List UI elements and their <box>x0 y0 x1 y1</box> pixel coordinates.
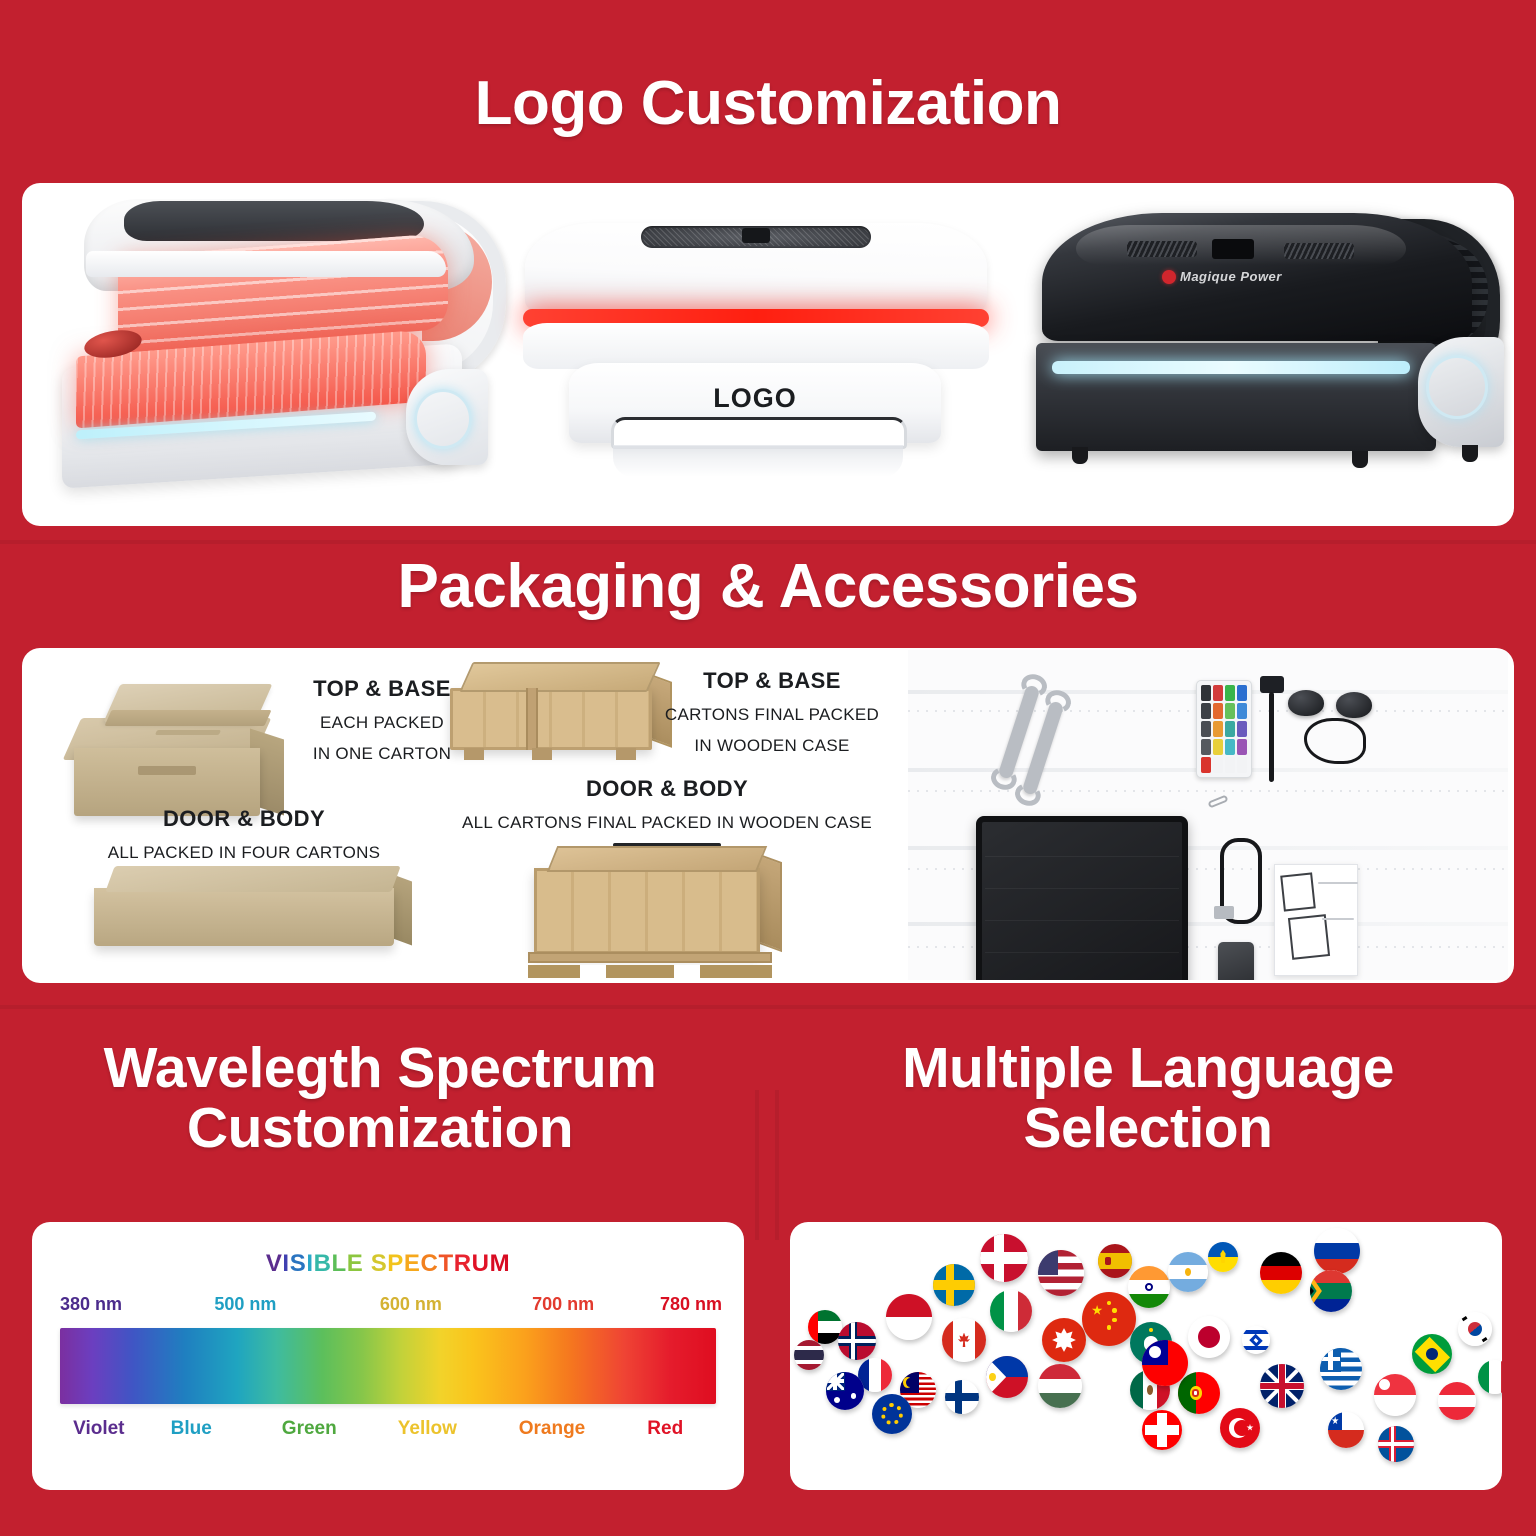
flag-icon-denmark[interactable] <box>980 1234 1028 1282</box>
flat-carton-illustration <box>86 866 426 966</box>
spectrum-title-letter: T <box>438 1250 453 1277</box>
spectrum-band-label: Orange <box>519 1418 586 1440</box>
crate-label-top-base: TOP & BASE CARTONS FINAL PACKED IN WOODE… <box>622 668 922 756</box>
goggles-icon <box>1336 692 1372 718</box>
flag-icon-turkey[interactable] <box>1220 1408 1260 1448</box>
spectrum-title-letter: I <box>282 1250 289 1277</box>
pallet-crate-illustration <box>522 846 802 983</box>
infographic-page: Logo Customization LOGO <box>0 0 1536 1536</box>
flag-icon-russia[interactable] <box>1314 1228 1360 1274</box>
black-pod-blue-strip <box>1052 361 1410 374</box>
flag-icon-south-korea[interactable] <box>1458 1312 1492 1346</box>
spectrum-color-names: VioletBlueGreenYellowOrangeRed <box>60 1418 716 1448</box>
black-pod-vent-right <box>1284 243 1354 259</box>
brand-mark-icon <box>1162 270 1176 284</box>
manual-text-line <box>1322 918 1354 920</box>
black-pod-caster-1 <box>1072 447 1088 464</box>
flag-icon-hong-kong[interactable] <box>1042 1318 1086 1362</box>
section-heading-packaging: Packaging & Accessories <box>0 555 1536 618</box>
tablet-icon <box>976 816 1188 980</box>
product-white-closed-pod: LOGO <box>517 201 997 501</box>
spectrum-band-label: Green <box>282 1418 337 1440</box>
bottom-divider-left <box>755 1090 759 1240</box>
flag-icon-argentina[interactable] <box>1168 1252 1208 1292</box>
flag-icon-iceland[interactable] <box>1378 1426 1414 1462</box>
spectrum-title-letter: S <box>290 1250 307 1277</box>
manual-figure-2 <box>1288 914 1330 960</box>
product-open-red-light-bed <box>52 193 502 513</box>
flag-icon-switzerland[interactable] <box>1142 1410 1182 1450</box>
usb-adapter-icon <box>1260 676 1284 693</box>
flag-icon-finland[interactable] <box>945 1380 979 1414</box>
section-heading-language: Multiple Language Selection <box>768 1038 1528 1159</box>
spectrum-title-letter: V <box>266 1250 283 1277</box>
goggles-strap <box>1304 718 1366 764</box>
pod-logo-text: LOGO <box>569 383 941 414</box>
flag-icon-greece[interactable] <box>1320 1348 1362 1390</box>
spectrum-title-letter: P <box>387 1250 404 1277</box>
flag-icon-philippines[interactable] <box>986 1356 1028 1398</box>
flag-icon-united-kingdom[interactable] <box>1260 1364 1304 1408</box>
spectrum-axis-ticks: 380 nm500 nm600 nm700 nm780 nm <box>60 1294 722 1320</box>
pod-sensor-window <box>742 228 770 243</box>
usb-adapter-cord <box>1269 692 1274 782</box>
flag-icon-austria[interactable] <box>1438 1382 1476 1420</box>
pod-reflection <box>613 445 903 477</box>
accessories-photo <box>908 650 1508 980</box>
flag-icon-ukraine[interactable] <box>1208 1242 1238 1272</box>
manual-text-line <box>1318 882 1358 884</box>
flag-cloud <box>790 1222 1502 1490</box>
spectrum-title-letter: C <box>421 1250 439 1277</box>
spectrum-title-letter: S <box>371 1250 388 1277</box>
spectrum-tick-label: 380 nm <box>60 1294 122 1315</box>
packaging-accessories-panel: TOP & BASE EACH PACKED IN ONE CARTON DOO… <box>22 648 1514 983</box>
spectrum-title-letter <box>363 1250 370 1277</box>
flag-icon-united-states[interactable] <box>1038 1250 1084 1296</box>
spectrum-title-letter: M <box>490 1250 511 1277</box>
flag-icon-australia[interactable] <box>826 1372 864 1410</box>
flag-icon-germany[interactable] <box>1260 1252 1302 1294</box>
rgb-remote-icon <box>1196 680 1252 778</box>
flag-icon-indonesia[interactable] <box>886 1294 932 1340</box>
spectrum-title-letter: E <box>347 1250 364 1277</box>
flag-icon-chile[interactable] <box>1328 1412 1364 1448</box>
section-heading-spectrum: Wavelegth Spectrum Customization <box>0 1038 760 1159</box>
spectrum-gradient-bar <box>60 1328 716 1404</box>
product-black-closed-pod: Magique Power <box>1022 203 1512 503</box>
spectrum-band-label: Violet <box>73 1418 124 1440</box>
bottom-divider-right <box>775 1090 779 1240</box>
power-adapter-icon <box>1218 942 1254 980</box>
flag-icon-sweden[interactable] <box>933 1264 975 1306</box>
flag-icon-brazil[interactable] <box>1412 1334 1452 1374</box>
manual-figure-1 <box>1280 872 1316 911</box>
flag-icon-taiwan[interactable] <box>1142 1340 1188 1386</box>
spectrum-title-letter: I <box>306 1250 313 1277</box>
black-pod-brand-logo: Magique Power <box>1162 269 1352 284</box>
spectrum-title-letter: U <box>472 1250 490 1277</box>
spectrum-tick-label: 600 nm <box>380 1294 442 1315</box>
flag-icon-singapore[interactable] <box>1374 1374 1416 1416</box>
spectrum-tick-label: 500 nm <box>214 1294 276 1315</box>
goggles-icon <box>1288 690 1324 716</box>
section-seam-2 <box>0 1005 1536 1009</box>
spectrum-title-letter: B <box>314 1250 332 1277</box>
clip-icon <box>1207 795 1228 809</box>
black-pod-vent-left <box>1127 241 1197 257</box>
bed-lid-glass <box>124 201 424 241</box>
spectrum-band-label: Red <box>647 1418 683 1440</box>
crate-label-door-body: DOOR & BODY ALL CARTONS FINAL PACKED IN … <box>452 776 882 847</box>
language-flags-panel <box>790 1222 1502 1490</box>
black-pod-caster-2 <box>1352 451 1368 468</box>
black-pod-display <box>1212 239 1254 259</box>
flag-icon-canada[interactable] <box>942 1318 986 1362</box>
spectrum-title: VISIBLE SPECTRUM <box>32 1250 744 1278</box>
visible-spectrum-chart: VISIBLE SPECTRUM 380 nm500 nm600 nm700 n… <box>32 1222 744 1490</box>
spectrum-tick-label: 780 nm <box>660 1294 722 1315</box>
spectrum-tick-label: 700 nm <box>532 1294 594 1315</box>
flag-icon-hungary[interactable] <box>1038 1364 1082 1408</box>
spectrum-band-label: Yellow <box>398 1418 457 1440</box>
flag-icon-japan[interactable] <box>1188 1316 1230 1358</box>
flag-icon-spain[interactable] <box>1098 1244 1132 1278</box>
flag-icon-european-union[interactable] <box>872 1394 912 1434</box>
spectrum-band-label: Blue <box>171 1418 212 1440</box>
black-pod-base <box>1036 343 1436 451</box>
logo-products-panel: LOGO Magique Power <box>22 183 1514 526</box>
section-heading-logo: Logo Customization <box>0 72 1536 135</box>
section-seam-1 <box>0 540 1536 544</box>
brand-name-text: Magique Power <box>1180 269 1282 284</box>
spectrum-title-letter: R <box>454 1250 472 1277</box>
flag-icon-israel[interactable] <box>1242 1326 1270 1354</box>
spectrum-title-letter: E <box>404 1250 421 1277</box>
black-pod-side-ring <box>1426 355 1488 419</box>
flag-icon-thailand[interactable] <box>794 1340 824 1370</box>
bed-pod-ring <box>414 389 472 449</box>
flag-icon-italy[interactable] <box>990 1290 1032 1332</box>
flag-icon-united-arab-emirates[interactable] <box>808 1310 842 1344</box>
usb-cable-connector <box>1214 906 1234 919</box>
flag-icon-norway[interactable] <box>838 1322 876 1360</box>
flag-icon-italy[interactable] <box>1478 1360 1502 1394</box>
flag-icon-south-africa[interactable] <box>1310 1270 1352 1312</box>
black-pod-caster-3 <box>1462 445 1478 462</box>
flag-icon-india[interactable] <box>1128 1266 1170 1308</box>
spectrum-title-letter: L <box>332 1250 347 1277</box>
bed-lid-face <box>86 251 446 277</box>
